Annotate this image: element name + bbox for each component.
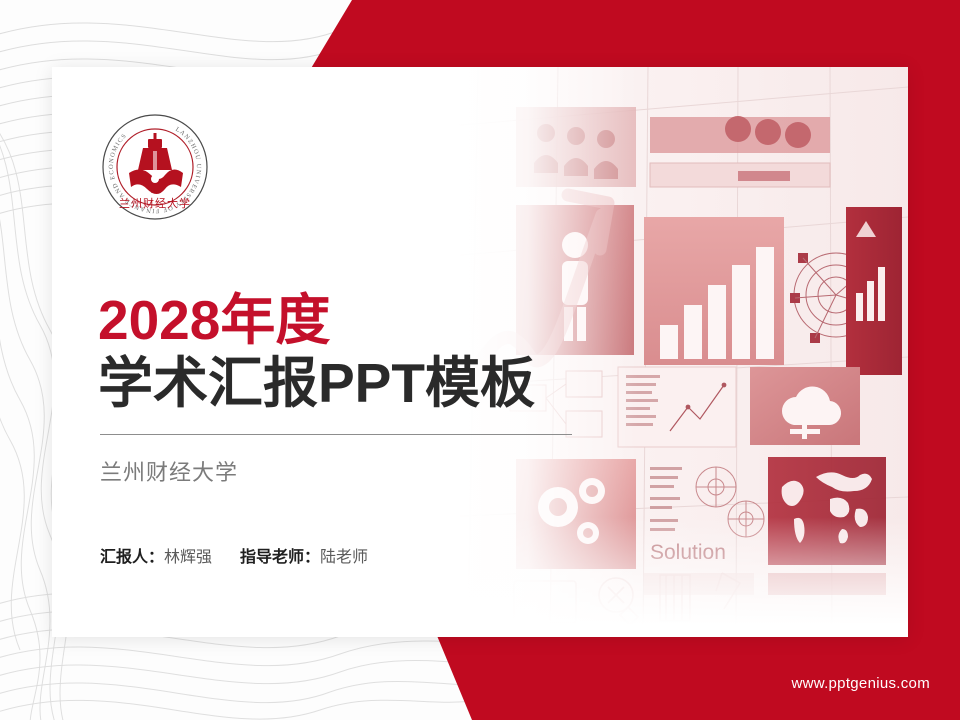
title-divider: [100, 434, 572, 435]
cloud-icon: [750, 367, 860, 445]
main-heading: 学术汇报PPT模板: [98, 354, 572, 412]
advisor-name: 陆老师: [320, 549, 368, 566]
credits-line: 汇报人：林辉强指导老师：陆老师: [100, 543, 572, 567]
svg-text:兰州财经大学: 兰州财经大学: [119, 196, 191, 210]
slide-card: Solution: [52, 67, 908, 637]
slide-canvas: Solution: [0, 0, 960, 720]
presenter-name: 林辉强: [164, 549, 212, 566]
presenter-label: 汇报人：: [100, 549, 164, 566]
footer-website-url[interactable]: www.pptgenius.com: [792, 675, 931, 692]
university-logo: LANZHOU UNIVERSITY OF FINANCE AND ECONOM…: [95, 107, 215, 227]
title-block: 2028年度 学术汇报PPT模板 兰州财经大学 汇报人：林辉强指导老师：陆老师: [98, 292, 572, 567]
year-heading: 2028年度: [98, 292, 572, 348]
advisor-label: 指导老师：: [240, 549, 320, 566]
university-name: 兰州财经大学: [100, 455, 572, 487]
svg-text:1952: 1952: [150, 189, 160, 194]
bar-chart-icon: [644, 217, 784, 365]
